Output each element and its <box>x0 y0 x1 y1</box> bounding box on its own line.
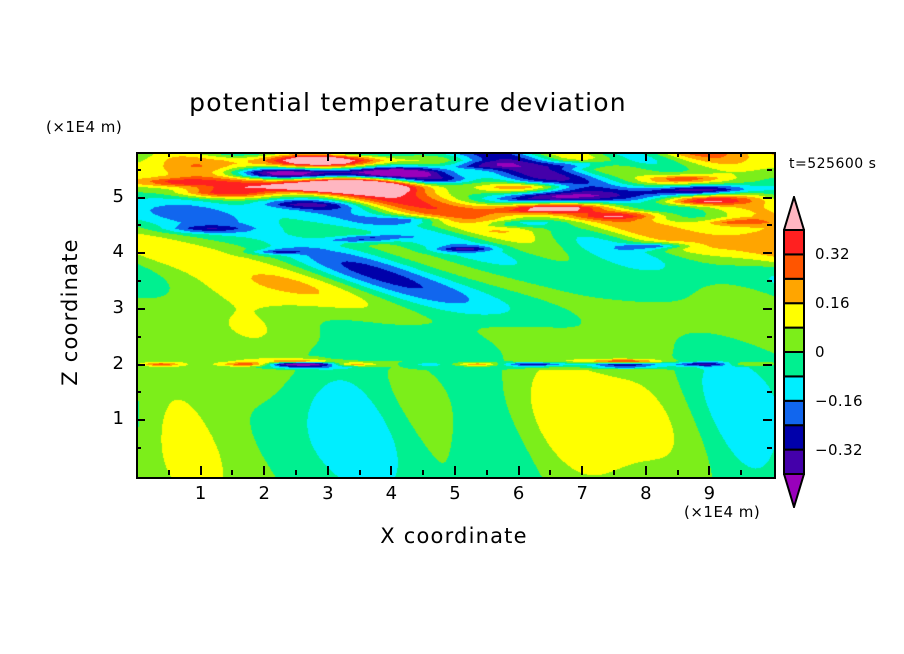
colorbar-tick-label: 0.32 <box>815 245 850 263</box>
z-minor-tick-right <box>767 169 772 171</box>
z-major-tick-right <box>763 197 772 199</box>
x-minor-tick <box>549 470 551 475</box>
z-major-tick <box>136 197 145 199</box>
colorbar-tick-label: −0.16 <box>815 392 863 410</box>
z-minor-tick-right <box>767 336 772 338</box>
colorbar-swatches <box>783 196 805 508</box>
x-minor-tick <box>359 470 361 475</box>
contour-plot-area <box>136 152 776 479</box>
x-major-tick <box>581 466 583 475</box>
x-minor-tick <box>677 470 679 475</box>
colorbar-band <box>784 279 804 303</box>
x-major-tick-top <box>645 152 647 161</box>
z-minor-tick <box>136 391 141 393</box>
timestamp-annotation: t=525600 s <box>789 156 876 172</box>
x-tick-label: 1 <box>181 483 221 504</box>
x-tick-label: 3 <box>308 483 348 504</box>
x-minor-tick-top <box>422 152 424 157</box>
z-major-tick-right <box>763 419 772 421</box>
z-minor-tick-right <box>767 280 772 282</box>
colorbar-band <box>784 376 804 400</box>
x-minor-tick-top <box>740 152 742 157</box>
x-major-tick-top <box>454 152 456 161</box>
x-tick-label: 9 <box>689 483 729 504</box>
z-major-tick-right <box>763 308 772 310</box>
z-tick-label: 5 <box>84 186 124 207</box>
x-minor-tick-top <box>168 152 170 157</box>
z-major-tick <box>136 252 145 254</box>
contour-field-canvas <box>138 154 774 477</box>
z-tick-label: 2 <box>84 353 124 374</box>
z-minor-tick <box>136 336 141 338</box>
z-tick-label: 3 <box>84 297 124 318</box>
z-minor-tick <box>136 224 141 226</box>
x-major-tick-top <box>390 152 392 161</box>
x-minor-tick <box>231 470 233 475</box>
x-major-tick-top <box>518 152 520 161</box>
x-major-tick <box>708 466 710 475</box>
x-major-tick <box>454 466 456 475</box>
z-minor-tick-right <box>767 447 772 449</box>
x-tick-label: 8 <box>626 483 666 504</box>
z-major-tick-right <box>763 252 772 254</box>
y-axis-unit-label: (×1E4 m) <box>46 118 122 136</box>
colorbar-band <box>784 450 804 474</box>
x-minor-tick-top <box>295 152 297 157</box>
colorbar-band <box>784 401 804 425</box>
z-major-tick <box>136 419 145 421</box>
x-major-tick <box>518 466 520 475</box>
colorbar-band <box>784 328 804 352</box>
x-tick-label: 5 <box>435 483 475 504</box>
x-minor-tick-top <box>486 152 488 157</box>
figure-root: potential temperature deviation (×1E4 m)… <box>0 0 904 654</box>
colorbar-tick-label: −0.32 <box>815 441 863 459</box>
x-minor-tick-top <box>359 152 361 157</box>
chart-title: potential temperature deviation <box>0 88 860 117</box>
x-major-tick-top <box>263 152 265 161</box>
colorbar-cap-high <box>784 197 804 230</box>
z-minor-tick-right <box>767 391 772 393</box>
x-major-tick <box>645 466 647 475</box>
x-minor-tick-top <box>231 152 233 157</box>
x-tick-label: 7 <box>562 483 602 504</box>
x-minor-tick <box>740 470 742 475</box>
z-tick-label: 4 <box>84 241 124 262</box>
x-minor-tick <box>613 470 615 475</box>
colorbar-band <box>784 352 804 376</box>
x-tick-label: 6 <box>499 483 539 504</box>
x-minor-tick <box>422 470 424 475</box>
x-axis-title: X coordinate <box>136 524 772 548</box>
colorbar-band <box>784 230 804 254</box>
x-axis-unit-label: (×1E4 m) <box>684 503 760 521</box>
x-tick-label: 4 <box>371 483 411 504</box>
colorbar-band <box>784 303 804 327</box>
x-minor-tick-top <box>549 152 551 157</box>
x-minor-tick <box>168 470 170 475</box>
colorbar-cap-low <box>784 474 804 507</box>
colorbar-band <box>784 425 804 449</box>
x-tick-label: 2 <box>244 483 284 504</box>
x-minor-tick-top <box>613 152 615 157</box>
x-major-tick-top <box>708 152 710 161</box>
x-minor-tick <box>295 470 297 475</box>
y-axis-title: Z coordinate <box>58 212 82 412</box>
colorbar-tick-label: 0 <box>815 343 825 361</box>
z-major-tick-right <box>763 364 772 366</box>
z-minor-tick <box>136 280 141 282</box>
x-major-tick <box>327 466 329 475</box>
z-minor-tick-right <box>767 224 772 226</box>
z-major-tick <box>136 364 145 366</box>
x-minor-tick-top <box>677 152 679 157</box>
x-major-tick-top <box>200 152 202 161</box>
z-minor-tick <box>136 169 141 171</box>
x-major-tick <box>200 466 202 475</box>
colorbar-tick-label: 0.16 <box>815 294 850 312</box>
x-major-tick <box>390 466 392 475</box>
x-major-tick-top <box>327 152 329 161</box>
x-major-tick-top <box>581 152 583 161</box>
z-tick-label: 1 <box>84 408 124 429</box>
colorbar-band <box>784 254 804 278</box>
z-major-tick <box>136 308 145 310</box>
x-minor-tick <box>486 470 488 475</box>
z-minor-tick <box>136 447 141 449</box>
colorbar <box>783 196 805 508</box>
x-major-tick <box>263 466 265 475</box>
